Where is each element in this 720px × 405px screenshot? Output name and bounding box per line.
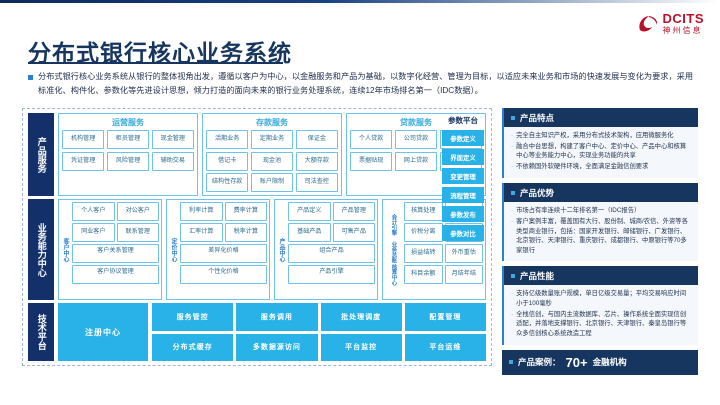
chip[interactable]: 公司贷款 bbox=[395, 130, 437, 149]
list-item: ·全栈信创，与国内主流数据库、芯片、操作系统全面实现信创适配，并落地支撑银行、北… bbox=[511, 310, 692, 338]
chip[interactable]: 现金池 bbox=[251, 152, 293, 171]
list-item: ·客户案例丰富，覆盖国有大行、股份制、城商/农信、外资等各类型商业银行，包括：国… bbox=[511, 217, 692, 255]
architecture-diagram: 产品服务 运营服务 机构管理 柜员管理 现金管理 凭证管理 风险管理 辅助交易 … bbox=[22, 108, 492, 366]
chip[interactable]: 损益结转 bbox=[404, 244, 443, 263]
list-item: ·支持亿级数量账户规模，单日亿级交易量；平均交易响应时间小于100毫秒 bbox=[511, 289, 692, 308]
list-item-text: 全栈信创，与国内主流数据库、芯片、操作系统全面实现信创适配，并落地支撑银行、北京… bbox=[516, 310, 692, 338]
band-product-service: 产品服务 运营服务 机构管理 柜员管理 现金管理 凭证管理 风险管理 辅助交易 … bbox=[28, 113, 486, 196]
chip[interactable]: 柜员管理 bbox=[107, 130, 149, 149]
chip[interactable]: 借记卡 bbox=[206, 152, 248, 171]
capability-row: 利率计算 费率计算 汇率计算 税率计算 bbox=[180, 202, 267, 242]
chip[interactable]: 账户限制 bbox=[251, 173, 293, 192]
chip[interactable]: 活期业务 bbox=[206, 130, 248, 149]
list-item-text: 客户案例丰富，覆盖国有大行、股份制、城商/农信、外资等各类型商业银行，包括：国家… bbox=[516, 217, 692, 255]
chip[interactable]: 个性化价格 bbox=[180, 265, 267, 284]
param-chip[interactable]: 参数定义 bbox=[442, 130, 484, 146]
chip[interactable]: 基础产品 bbox=[288, 223, 331, 242]
card-header: 产品优势 bbox=[504, 183, 698, 202]
content-stage: 产品服务 运营服务 机构管理 柜员管理 现金管理 凭证管理 风险管理 辅助交易 … bbox=[22, 108, 698, 370]
chip[interactable]: 保证金 bbox=[296, 130, 338, 149]
header-accent-bar bbox=[0, 0, 720, 3]
band-body-tech: 注册中心 服务管控 服务调用 批处理调度 配置管理 分布式缓存 多数据源访问 平… bbox=[58, 303, 486, 361]
card-body: ·支持亿级数量账户规模，单日亿级交易量；平均交易响应时间小于100毫秒 ·全栈信… bbox=[504, 285, 698, 344]
chip[interactable]: 结构性存款 bbox=[206, 173, 248, 192]
tech-chip[interactable]: 分布式缓存 bbox=[152, 334, 233, 362]
card-header: 产品性能 bbox=[504, 266, 698, 285]
chip[interactable]: 利率计算 bbox=[180, 202, 223, 221]
capability-group-product: 产品中心 产品定义 产品管理 基础产品 可售产品 组合产品 产品引擎 bbox=[274, 199, 378, 300]
chip[interactable]: 辅助交易 bbox=[152, 152, 194, 171]
dot-icon: · bbox=[511, 162, 513, 171]
card-title: 产品特点 bbox=[520, 112, 554, 124]
group-title: 存款服务 bbox=[256, 117, 288, 128]
band-tech-platform: 技术平台 注册中心 服务管控 服务调用 批处理调度 配置管理 分布式缓存 多数据… bbox=[28, 303, 486, 361]
service-group-operations: 运营服务 机构管理 柜员管理 现金管理 凭证管理 风险管理 辅助交易 bbox=[58, 113, 198, 196]
card-body: ·市场占有率连续十二年排名第一（IDC报告） ·客户案例丰富，覆盖国有大行、股份… bbox=[504, 202, 698, 261]
card-title: 产品优势 bbox=[520, 187, 554, 199]
chip[interactable]: 个人贷款 bbox=[350, 130, 392, 149]
right-panel: 产品特点 ·完全自主知识产权，采用分布式技术架构，应用微服务化 ·融合中台思想，… bbox=[502, 108, 698, 370]
chip[interactable]: 产品管理 bbox=[333, 202, 376, 221]
square-bullet-icon bbox=[511, 191, 515, 195]
tech-chip[interactable]: 配置管理 bbox=[405, 303, 486, 331]
tech-chip[interactable]: 多数据源访问 bbox=[236, 334, 317, 362]
list-item-text: 融合中台思想，构建了客户中心、定价中心、产品中心和核算中心等业务能力中心，实现业… bbox=[516, 142, 692, 161]
band-body-product-service: 运营服务 机构管理 柜员管理 现金管理 凭证管理 风险管理 辅助交易 存款服务 … bbox=[58, 113, 486, 196]
card-title: 产品性能 bbox=[520, 270, 554, 282]
dot-icon: · bbox=[511, 289, 513, 308]
capability-side-label: 客户中心 bbox=[61, 202, 70, 297]
chip[interactable]: 月结年结 bbox=[445, 265, 484, 284]
param-platform: 参数平台 参数定义 界面定义 变更管理 流程管理 参数发布 参数对比 bbox=[438, 113, 488, 241]
bullet-square-icon bbox=[28, 75, 33, 80]
chip[interactable]: 汇率计算 bbox=[180, 223, 223, 242]
chip[interactable]: 价税分离 bbox=[404, 223, 443, 242]
list-item-text: 完全自主知识产权，采用分布式技术架构，应用微服务化 bbox=[516, 131, 673, 140]
chip[interactable]: 客户关系管理 bbox=[72, 244, 159, 263]
list-item-text: 不依赖国外软硬件环境，全面满足金融信创要求 bbox=[516, 162, 648, 171]
logo-cn-text: 神州信息 bbox=[663, 27, 705, 35]
param-chip[interactable]: 变更管理 bbox=[442, 168, 484, 184]
card-body: ·完全自主知识产权，采用分布式技术架构，应用微服务化 ·融合中台思想，构建了客户… bbox=[504, 127, 698, 178]
band-label-capability-center: 业务能力中心 bbox=[28, 199, 54, 300]
chip[interactable]: 个人客户 bbox=[72, 202, 115, 221]
tech-chip[interactable]: 批处理调度 bbox=[321, 303, 402, 331]
tech-chip[interactable]: 服务管控 bbox=[152, 303, 233, 331]
card-product-features: 产品特点 ·完全自主知识产权，采用分布式技术架构，应用微服务化 ·融合中台思想，… bbox=[502, 108, 698, 178]
square-bullet-icon bbox=[509, 360, 513, 364]
chip[interactable]: 税率计算 bbox=[225, 223, 268, 242]
case-suffix: 金融机构 bbox=[593, 356, 627, 368]
chip[interactable]: 产品定义 bbox=[288, 202, 331, 221]
chip[interactable]: 票据贴现 bbox=[350, 152, 392, 171]
capability-side-label: 核算中心 bbox=[390, 264, 398, 286]
list-item: ·市场占有率连续十二年排名第一（IDC报告） bbox=[511, 206, 692, 215]
capability-body: 利率计算 费率计算 汇率计算 税率计算 差异化价格 个性化价格 bbox=[180, 202, 267, 297]
chip[interactable]: 核算处理 bbox=[404, 202, 443, 221]
chip[interactable]: 大额存款 bbox=[296, 152, 338, 171]
card-header: 产品特点 bbox=[504, 108, 698, 127]
group-title: 运营服务 bbox=[112, 117, 144, 128]
chip[interactable]: 风险管理 bbox=[107, 152, 149, 171]
chip[interactable]: 客户协议管理 bbox=[72, 265, 159, 284]
chip[interactable]: 现金管理 bbox=[152, 130, 194, 149]
logo-en-text: DCITS bbox=[663, 12, 705, 25]
tech-chip[interactable]: 平台运维 bbox=[405, 334, 486, 362]
list-item-text: 市场占有率连续十二年排名第一（IDC报告） bbox=[516, 206, 640, 215]
title-underline bbox=[28, 62, 283, 64]
chip[interactable]: 外币重估 bbox=[445, 244, 484, 263]
chip-grid: 活期业务 定期业务 保证金 借记卡 现金池 大额存款 结构性存款 账户限制 司法… bbox=[206, 130, 338, 192]
list-item: ·完全自主知识产权，采用分布式技术架构，应用微服务化 bbox=[511, 131, 692, 140]
card-product-advantages: 产品优势 ·市场占有率连续十二年排名第一（IDC报告） ·客户案例丰富，覆盖国有… bbox=[502, 183, 698, 261]
dcits-logo: DCITS 神州信息 bbox=[637, 12, 705, 35]
band-capability-center: 业务能力中心 客户中心 个人客户 对公客户 同业客户 联系管理 客户关系管理 客… bbox=[28, 199, 486, 300]
chip[interactable]: 机构管理 bbox=[62, 130, 104, 149]
param-chip[interactable]: 参数发布 bbox=[442, 206, 484, 222]
square-bullet-icon bbox=[511, 116, 515, 120]
capability-group-customer: 客户中心 个人客户 对公客户 同业客户 联系管理 客户关系管理 客户协议管理 bbox=[58, 199, 162, 300]
list-item: ·不依赖国外软硬件环境，全面满足金融信创要求 bbox=[511, 162, 692, 171]
tech-chip-grid: 服务管控 服务调用 批处理调度 配置管理 分布式缓存 多数据源访问 平台监控 平… bbox=[152, 303, 486, 361]
chip[interactable]: 差异化价格 bbox=[180, 244, 267, 263]
param-chip[interactable]: 参数对比 bbox=[442, 225, 484, 241]
capability-side-label-accounting: 会计引擎 业务总账 核算中心 bbox=[385, 202, 402, 297]
intro-paragraph: 分布式银行核心业务系统从银行的整体视角出发，遵循以客户为中心，以金融服务和产品为… bbox=[28, 70, 696, 97]
group-title: 贷款服务 bbox=[400, 117, 432, 128]
chip[interactable]: 科目余额 bbox=[404, 265, 443, 284]
case-value: 70+ bbox=[566, 355, 588, 370]
chip[interactable]: 凭证管理 bbox=[62, 152, 104, 171]
capability-body: 个人客户 对公客户 同业客户 联系管理 客户关系管理 客户协议管理 bbox=[72, 202, 159, 297]
product-case-banner: 产品案例： 70+ 金融机构 bbox=[502, 350, 698, 375]
list-item: ·融合中台思想，构建了客户中心、定价中心、产品中心和核算中心等业务能力中心，实现… bbox=[511, 142, 692, 161]
chip[interactable]: 定期业务 bbox=[251, 130, 293, 149]
tech-chip[interactable]: 平台监控 bbox=[321, 334, 402, 362]
chip-grid: 机构管理 柜员管理 现金管理 凭证管理 风险管理 辅助交易 bbox=[62, 130, 194, 171]
case-label: 产品案例： bbox=[518, 356, 561, 368]
chip[interactable]: 可售产品 bbox=[333, 223, 376, 242]
logo-swirl-icon bbox=[637, 14, 659, 34]
accounting-sublabels: 会计引擎 业务总账 bbox=[390, 214, 398, 263]
band-body-capability: 客户中心 个人客户 对公客户 同业客户 联系管理 客户关系管理 客户协议管理 定… bbox=[58, 199, 486, 300]
param-chip[interactable]: 流程管理 bbox=[442, 187, 484, 203]
param-chip[interactable]: 界面定义 bbox=[442, 149, 484, 165]
capability-row: 产品定义 产品管理 基础产品 可售产品 bbox=[288, 202, 375, 242]
intro-text: 分布式银行核心业务系统从银行的整体视角出发，遵循以客户为中心，以金融服务和产品为… bbox=[38, 70, 696, 97]
capability-group-pricing: 定价中心 利率计算 费率计算 汇率计算 税率计算 差异化价格 个性化价格 bbox=[166, 199, 270, 300]
dot-icon: · bbox=[511, 206, 513, 215]
capability-body: 产品定义 产品管理 基础产品 可售产品 组合产品 产品引擎 bbox=[288, 202, 375, 297]
band-label-tech-platform: 技术平台 bbox=[28, 303, 54, 361]
dot-icon: · bbox=[511, 310, 513, 338]
tech-register-center[interactable]: 注册中心 bbox=[58, 303, 148, 361]
square-bullet-icon bbox=[511, 274, 515, 278]
list-item-text: 支持亿级数量账户规模，单日亿级交易量；平均交易响应时间小于100毫秒 bbox=[516, 289, 692, 308]
capability-row: 个人客户 对公客户 同业客户 联系管理 bbox=[72, 202, 159, 242]
band-label-product-service: 产品服务 bbox=[28, 113, 54, 196]
dot-icon: · bbox=[511, 131, 513, 140]
chip[interactable]: 产品引擎 bbox=[288, 265, 375, 284]
chip[interactable]: 费率计算 bbox=[225, 202, 268, 221]
chip[interactable]: 组合产品 bbox=[288, 244, 375, 263]
chip[interactable]: 同业客户 bbox=[72, 223, 115, 242]
tech-chip[interactable]: 服务调用 bbox=[236, 303, 317, 331]
chip[interactable]: 网上贷款 bbox=[395, 152, 437, 171]
card-product-performance: 产品性能 ·支持亿级数量账户规模，单日亿级交易量；平均交易响应时间小于100毫秒… bbox=[502, 266, 698, 344]
chip[interactable]: 对公客户 bbox=[117, 202, 160, 221]
chip[interactable]: 司法查控 bbox=[296, 173, 338, 192]
service-group-deposit: 存款服务 活期业务 定期业务 保证金 借记卡 现金池 大额存款 结构性存款 账户… bbox=[202, 113, 342, 196]
capability-side-label: 产品中心 bbox=[277, 202, 286, 297]
chip[interactable]: 联系管理 bbox=[117, 223, 160, 242]
dot-icon: · bbox=[511, 217, 513, 255]
param-platform-title: 参数平台 bbox=[448, 115, 478, 126]
capability-side-label: 定价中心 bbox=[169, 202, 178, 297]
dot-icon: · bbox=[511, 142, 513, 161]
